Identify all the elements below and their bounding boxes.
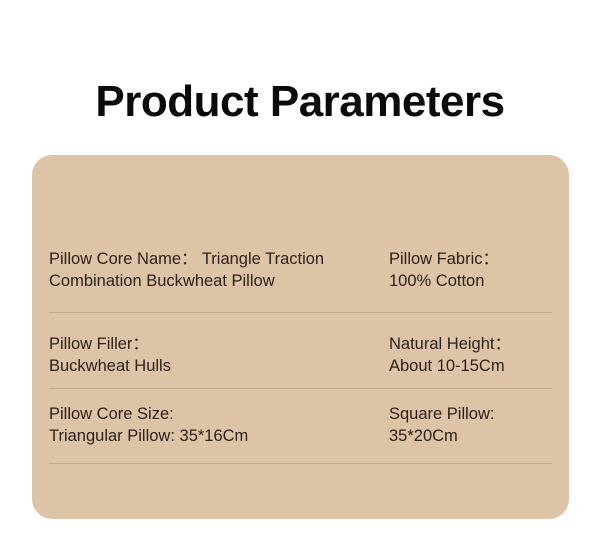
parameters-panel: Pillow Core Name： Triangle Traction Comb… bbox=[32, 155, 569, 519]
product-parameters-page: Product Parameters Pillow Core Name： Tri… bbox=[0, 0, 600, 557]
parameter-row: Pillow Filler： Buckwheat Hulls Natural H… bbox=[49, 333, 552, 377]
parameter-cell-natural-height: Natural Height： About 10-15Cm bbox=[389, 333, 552, 377]
page-title: Product Parameters bbox=[0, 74, 600, 130]
parameter-cell-pillow-fabric: Pillow Fabric： 100% Cotton bbox=[389, 248, 552, 292]
parameter-cell-pillow-core-size: Pillow Core Size: Triangular Pillow: 35*… bbox=[49, 403, 389, 447]
parameter-cell-square-pillow: Square Pillow: 35*20Cm bbox=[389, 403, 552, 447]
parameter-cell-pillow-core-name: Pillow Core Name： Triangle Traction Comb… bbox=[49, 248, 389, 292]
parameter-row: Pillow Core Size: Triangular Pillow: 35*… bbox=[49, 403, 552, 447]
parameter-rows: Pillow Core Name： Triangle Traction Comb… bbox=[32, 155, 569, 519]
parameter-cell-pillow-filler: Pillow Filler： Buckwheat Hulls bbox=[49, 333, 389, 377]
parameter-row: Pillow Core Name： Triangle Traction Comb… bbox=[49, 248, 552, 292]
